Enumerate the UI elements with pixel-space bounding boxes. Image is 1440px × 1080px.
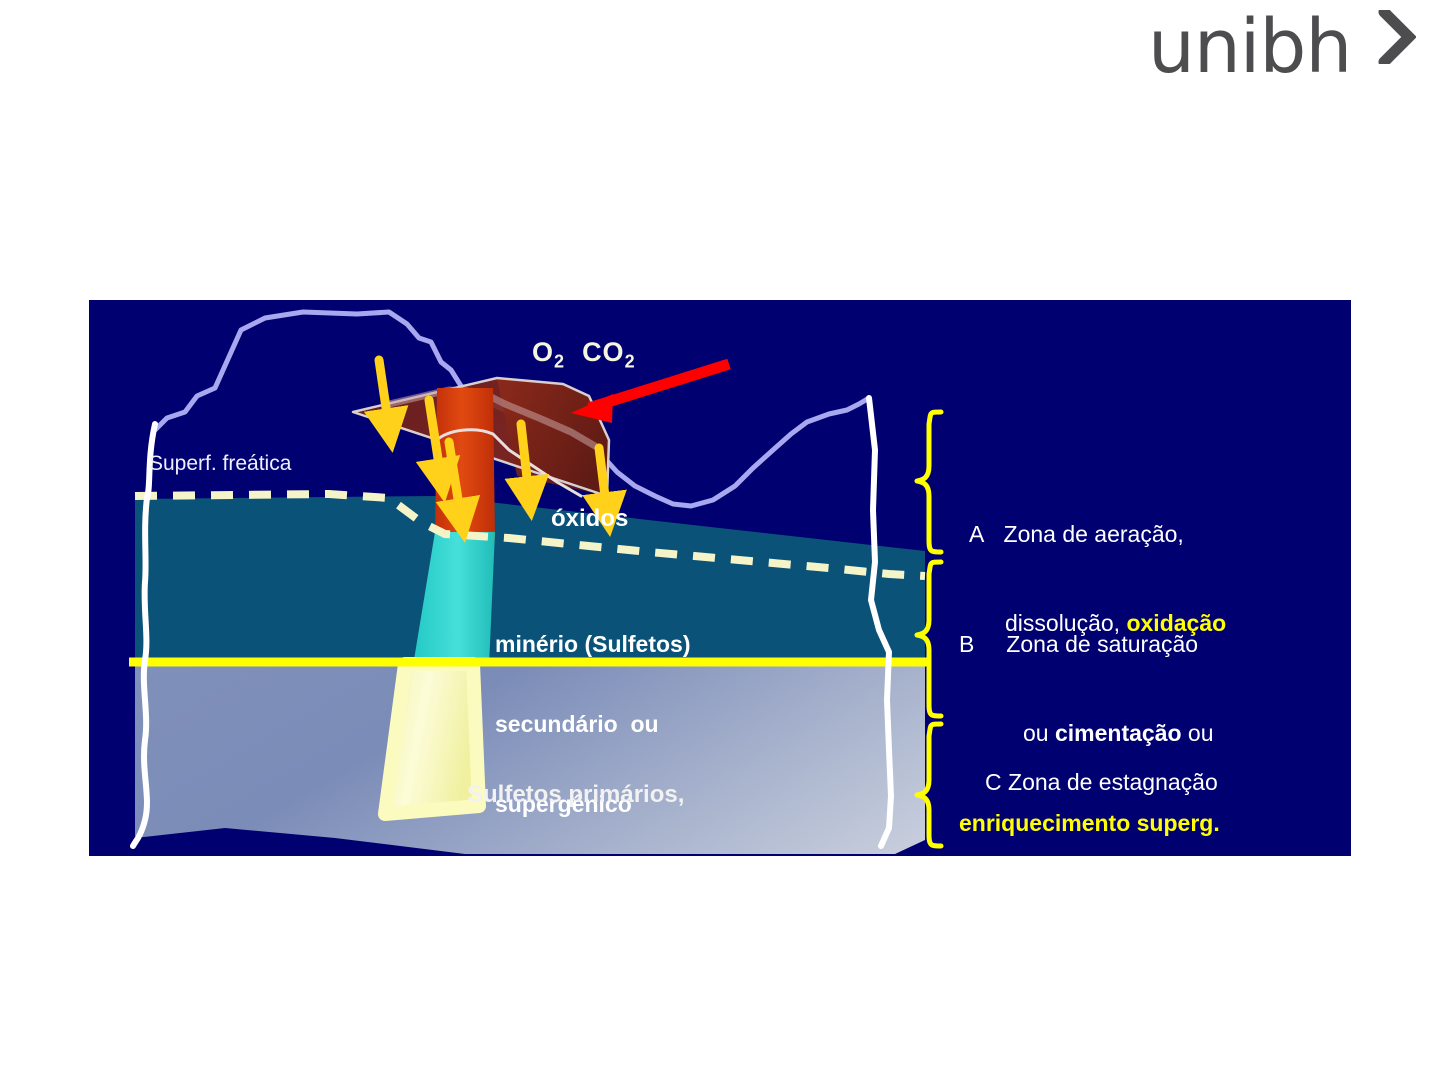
legend-a-line1: Zona de aeração, <box>1004 521 1184 547</box>
legend-c-key: C <box>985 769 1002 795</box>
supergene-enrichment-diagram: O2 CO2 Superf. freática óxidos minério (… <box>89 300 1351 856</box>
logo-wordmark: unibh <box>1148 8 1351 86</box>
legend-c-line1: Zona de estagnação <box>1008 769 1218 795</box>
legend-a-key: A <box>969 521 984 547</box>
o2-symbol: O <box>532 337 554 367</box>
primary-ore-line-1: Sulfetos primários, <box>467 781 684 809</box>
slide-canvas: unibh <box>0 0 1440 1080</box>
water-table-label: Superf. freática <box>149 452 291 476</box>
co2-symbol: CO <box>582 337 625 367</box>
legend-item-c: C Zona de estagnação ou zona do proto-mi… <box>957 708 1232 856</box>
co2-subscript: 2 <box>625 352 636 372</box>
legend-a-row1: A Zona de aeração, <box>969 520 1226 550</box>
oxides-label: óxidos <box>551 505 628 533</box>
legend-b-row1: B Zona de saturação <box>959 630 1220 660</box>
vein-primary-lower <box>385 664 479 814</box>
unibh-logo: unibh <box>1148 8 1418 86</box>
legend-b-line1: Zona de saturação <box>1006 631 1198 657</box>
curly-brace-icon <box>917 412 941 846</box>
primary-ore-label: Sulfetos primários, ou hipogênicos, ou p… <box>467 725 684 856</box>
vein-secondary-cyan <box>413 532 495 666</box>
legend-b-key: B <box>959 631 974 657</box>
legend-c-row1: C Zona de estagnação <box>957 768 1232 798</box>
secondary-ore-line-1: minério (Sulfetos) <box>495 631 691 658</box>
chevron-right-icon <box>1376 10 1416 64</box>
gas-label: O2 CO2 <box>481 306 636 404</box>
o2-subscript: 2 <box>554 352 565 372</box>
water-table-dashed-line <box>135 494 925 576</box>
